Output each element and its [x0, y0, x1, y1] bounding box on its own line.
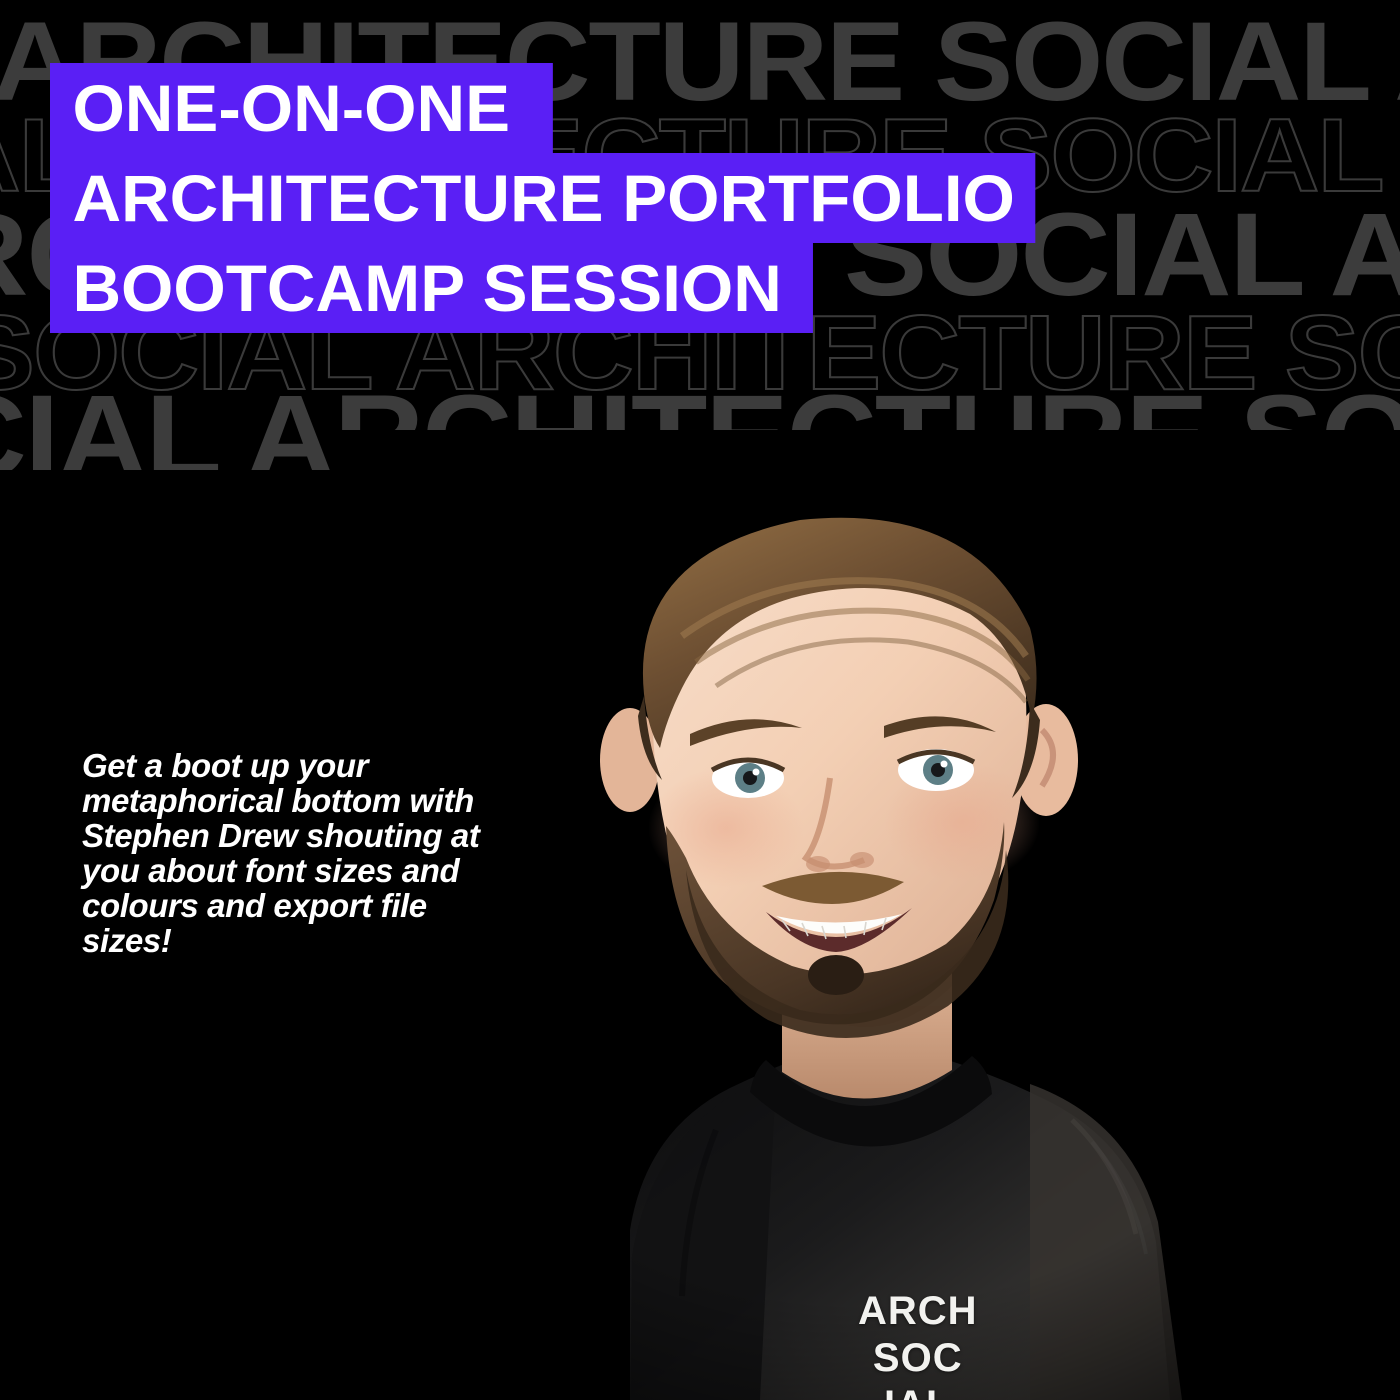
headline-line-3: BOOTCAMP SESSION [50, 243, 812, 333]
poster-canvas: ARCHITECTURE SOCIAL ARCHITECTURE SOCIAL … [0, 0, 1400, 1400]
shirt-logo: ARCH SOC IAL [858, 1288, 978, 1400]
headline-line-1: ONE-ON-ONE [50, 63, 553, 153]
shirt-logo-line-2: SOC [858, 1335, 978, 1382]
shirt-logo-line-3: IAL [858, 1382, 978, 1400]
headline-line-2: ARCHITECTURE PORTFOLIO [50, 153, 1035, 243]
shirt-logo-line-1: ARCH [858, 1288, 978, 1335]
blurb-text: Get a boot up your metaphorical bottom w… [82, 748, 502, 958]
page-title: ONE-ON-ONE ARCHITECTURE PORTFOLIO BOOTCA… [50, 63, 1016, 333]
